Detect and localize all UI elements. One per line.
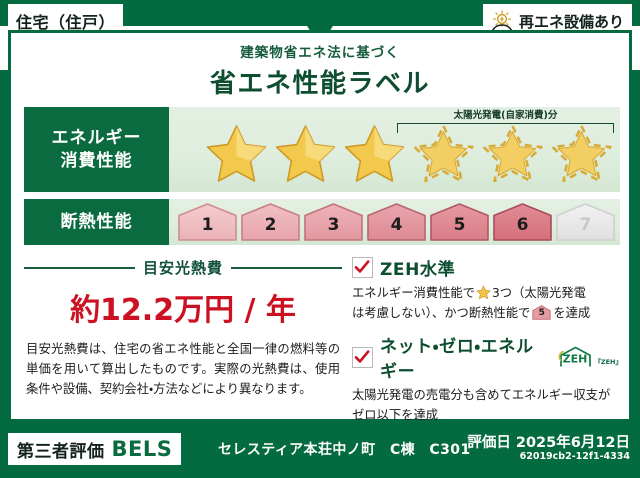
heading-rule-left	[24, 267, 135, 269]
energy-cost-panel: 目安光熱費 約12.2万円 / 年 目安光熱費は、住宅の省エネ性能と全国一律の燃…	[24, 255, 342, 405]
zeh-standard-title: ZEH水準	[380, 255, 455, 280]
net-zero-description: 太陽光発電の売電分も含めてエネルギー収支がゼロ以下を達成	[352, 386, 622, 425]
zeh-desc-part1: エネルギー消費性能で	[352, 286, 475, 300]
check-icon	[354, 259, 370, 275]
insulation-house-achieved: 6	[492, 202, 553, 242]
insulation-label-text: 断熱性能	[61, 211, 133, 233]
star-icon-solar	[409, 122, 478, 188]
energy-performance-label: 住宅（住戸） 再エネ設備あり 建築物省エネ法に基づく 省エネ性能ラベル	[0, 0, 640, 478]
zeh-desc-stars: 3つ（太陽光発電	[492, 286, 586, 300]
check-icon	[354, 349, 370, 365]
renewable-badge-label: 再エネ設備あり	[519, 11, 624, 32]
insulation-house-achieved: 1	[177, 202, 238, 242]
energy-performance-row: エネルギー 消費性能 太陽光発電(自家消費)分	[24, 107, 620, 192]
heading-rule-right	[231, 267, 342, 269]
insulation-house-achieved: 4	[366, 202, 427, 242]
title-main: 省エネ性能ラベル	[11, 63, 629, 100]
bels-badge: 第三者評価 BELS	[8, 433, 181, 465]
net-zero-block: ネット・ゼロ・エネルギー ZEH 『ZEH』 太陽光発電の売電分も含めてエネル	[352, 332, 622, 425]
inline-star-icon	[476, 285, 491, 300]
star-icon-solar	[547, 122, 616, 188]
insulation-house-achieved: 2	[240, 202, 301, 242]
zeh-house-logo-icon: ZEH	[557, 346, 593, 368]
net-zero-title: ネット・ゼロ・エネルギー	[380, 332, 545, 382]
zeh-standard-heading: ZEH水準	[352, 255, 622, 280]
insulation-house-unachieved: 7	[555, 202, 616, 242]
title-subtitle: 建築物省エネ法に基づく	[11, 41, 629, 61]
zeh-standard-description: エネルギー消費性能で 3つ（太陽光発電は考慮しない）、かつ断熱性能で 5 を達成	[352, 284, 622, 323]
metric-rows: エネルギー 消費性能 太陽光発電(自家消費)分 断熱性能	[24, 107, 620, 252]
inline-house-level-number: 5	[532, 306, 551, 320]
third-party-eval-label: 第三者評価	[17, 437, 105, 462]
lower-section: 目安光熱費 約12.2万円 / 年 目安光熱費は、住宅の省エネ性能と全国一律の燃…	[24, 255, 622, 405]
energy-label-line1: エネルギー	[52, 127, 142, 149]
star-icon-filled	[271, 122, 340, 188]
star-icon-filled	[202, 122, 271, 188]
net-zero-heading: ネット・ゼロ・エネルギー ZEH 『ZEH』	[352, 332, 622, 382]
label-card: 建築物省エネ法に基づく 省エネ性能ラベル エネルギー 消費性能 太陽光発電(自家…	[8, 30, 632, 422]
insulation-house-number: 4	[366, 215, 427, 235]
energy-cost-value: 約12.2万円 / 年	[24, 285, 342, 329]
energy-cost-note: 目安光熱費は、住宅の省エネ性能と全国一律の燃料等の単価を用いて算出したものです。…	[24, 340, 342, 400]
insulation-house-number: 1	[177, 215, 238, 235]
insulation-house-number: 7	[555, 215, 616, 235]
zeh-logo: ZEH 『ZEH』	[557, 346, 622, 368]
footer-bar: 第三者評価 BELS セレスティア本荘中ノ町 C棟 C301 評価日 2025年…	[0, 426, 640, 478]
building-name: セレスティア本荘中ノ町 C棟 C301	[218, 439, 471, 459]
energy-cost-heading-text: 目安光熱費	[143, 257, 223, 278]
insulation-house-achieved: 5	[429, 202, 490, 242]
net-zero-checkbox[interactable]	[352, 347, 373, 368]
evaluation-date: 評価日 2025年6月12日	[467, 431, 630, 452]
insulation-label-block: 断熱性能	[24, 199, 169, 245]
insulation-performance-row: 断熱性能 1234567	[24, 199, 620, 245]
zeh-desc-part3: を達成	[553, 306, 590, 320]
energy-cost-heading: 目安光熱費	[24, 257, 342, 278]
inline-house-level-icon: 5	[532, 305, 551, 320]
title-block: 建築物省エネ法に基づく 省エネ性能ラベル	[11, 41, 629, 100]
zeh-desc-part2: は考慮しない）、かつ断熱性能で	[352, 306, 530, 320]
bels-logo-text: BELS	[112, 437, 173, 461]
zeh-standard-checkbox[interactable]	[352, 257, 373, 278]
star-icon-solar	[478, 122, 547, 188]
insulation-house-number: 5	[429, 215, 490, 235]
svg-text:ZEH: ZEH	[563, 353, 588, 366]
energy-star-rating	[177, 121, 616, 189]
evaluation-id: 62019cb2-12f1-4334	[520, 451, 630, 462]
zeh-panel: ZEH水準 エネルギー消費性能で 3つ（太陽光発電は考慮しない）、かつ断熱性能で…	[342, 255, 622, 405]
insulation-house-number: 6	[492, 215, 553, 235]
energy-performance-body: 太陽光発電(自家消費)分	[169, 107, 620, 192]
insulation-level-scale: 1234567	[169, 199, 616, 245]
insulation-body: 1234567	[169, 199, 620, 245]
energy-performance-label-block: エネルギー 消費性能	[24, 107, 169, 192]
zeh-standard-block: ZEH水準 エネルギー消費性能で 3つ（太陽光発電は考慮しない）、かつ断熱性能で…	[352, 255, 622, 323]
star-icon-filled	[340, 122, 409, 188]
insulation-house-achieved: 3	[303, 202, 364, 242]
insulation-house-number: 3	[303, 215, 364, 235]
zeh-logo-caption: 『ZEH』	[594, 356, 622, 368]
insulation-house-number: 2	[240, 215, 301, 235]
energy-label-line2: 消費性能	[61, 150, 133, 172]
